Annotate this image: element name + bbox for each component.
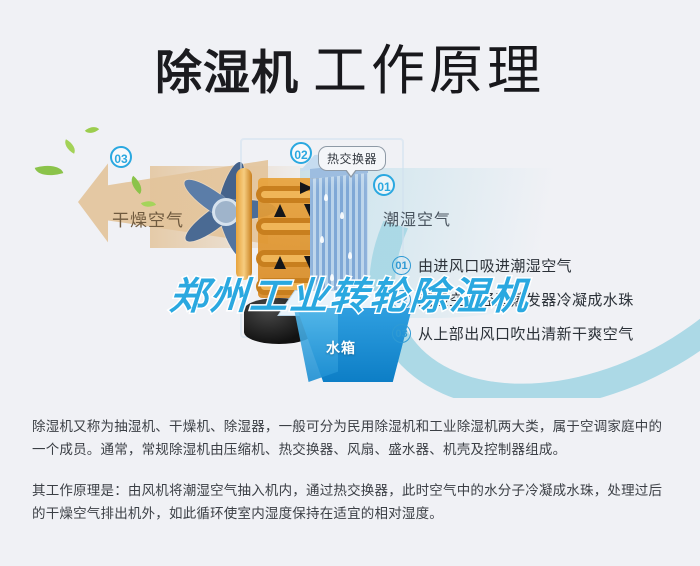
water-droplet [330,274,334,281]
list-item: 02 潮湿空气经过蒸发器冷凝成水珠 [392,282,692,316]
water-droplet [320,236,324,243]
water-droplet [324,194,328,201]
airflow-arrow-up [274,256,286,269]
diagram-badge-02: 02 [290,142,312,164]
leaf-icon [85,123,99,137]
diagram-badge-01: 01 [373,174,395,196]
diagram-badge-03: 03 [110,146,132,168]
page-title-primary: 除湿机 [155,46,299,99]
steps-list: 01 由进风口吸进潮湿空气 02 潮湿空气经过蒸发器冷凝成水珠 03 从上部出风… [392,248,692,350]
step-badge-02: 02 [392,290,411,309]
step-text-02: 潮湿空气经过蒸发器冷凝成水珠 [418,289,634,310]
list-item: 01 由进风口吸进潮湿空气 [392,248,692,282]
step-text-03: 从上部出风口吹出清新干爽空气 [418,323,634,344]
body-paragraph-2: 其工作原理是：由风机将潮湿空气抽入机内，通过热交换器，此时空气中的水分子冷凝成水… [32,479,672,525]
leaf-icon [62,139,79,154]
step-badge-01: 01 [392,256,411,275]
body-copy: 除湿机又称为抽湿机、干燥机、除湿器，一般可分为民用除湿机和工业除湿机两大类，属于… [32,415,672,525]
step-badge-03: 03 [392,324,411,343]
body-paragraph-1: 除湿机又称为抽湿机、干燥机、除湿器，一般可分为民用除湿机和工业除湿机两大类，属于… [32,415,672,461]
leaf-icon [35,161,64,181]
wet-air-label: 潮湿空气 [383,206,451,230]
page-title-secondary: 工作原理 [313,41,545,101]
heat-exchanger-callout: 热交换器 [318,146,386,171]
diagram-illustration: 干燥空气 [0,108,700,398]
step-text-01: 由进风口吸进潮湿空气 [418,255,572,276]
water-droplet [340,212,344,219]
airflow-arrow-up [274,204,286,217]
infographic-page: 除湿机工作原理 干燥空气 [0,0,700,566]
list-item: 03 从上部出风口吹出清新干爽空气 [392,316,692,350]
water-tank-label: 水箱 [326,338,356,358]
page-title: 除湿机工作原理 [0,26,700,105]
water-droplet [348,252,352,259]
refrigerant-tube [236,168,252,280]
